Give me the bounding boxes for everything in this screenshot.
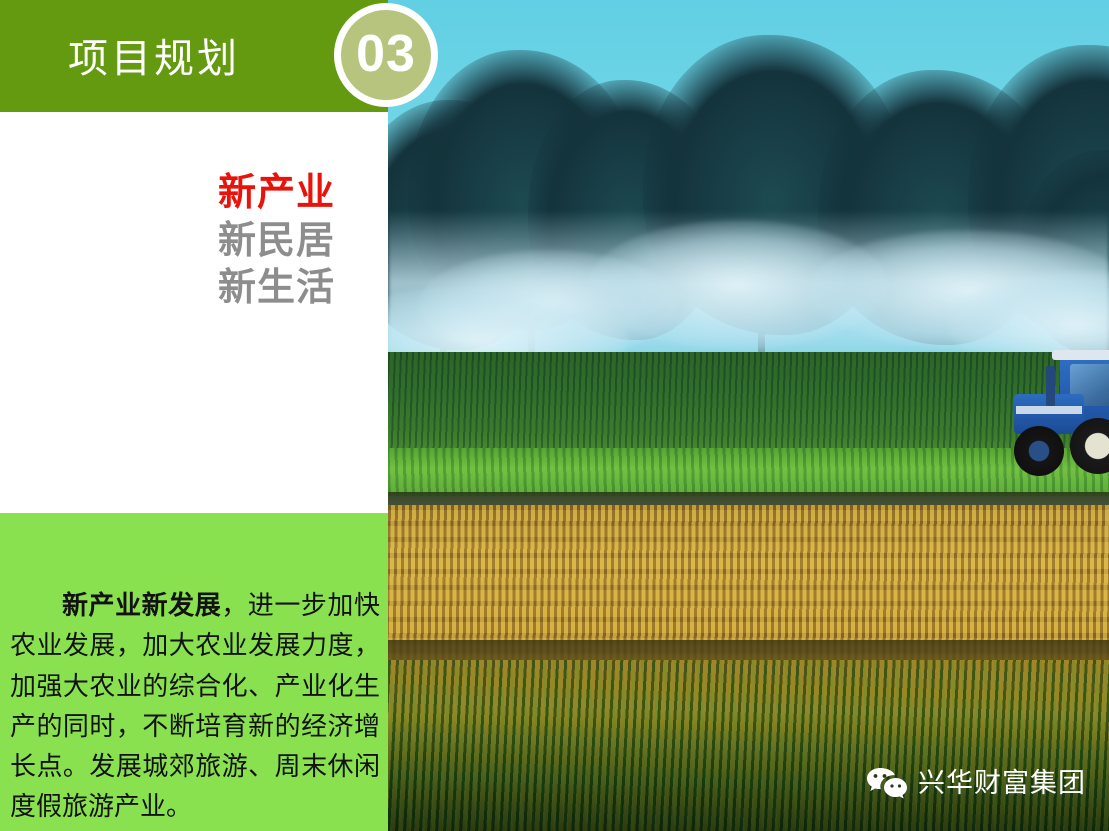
headline-group: 新产业 新民居 新生活 <box>218 170 335 313</box>
body-rest: ，进一步加快农业发展，加大农业发展力度，加强大农业的综合化、产业化生产的同时，不… <box>10 590 380 821</box>
section-number: 03 <box>356 28 416 80</box>
exhaust-stack <box>1046 366 1055 406</box>
section-number-badge: 03 <box>334 3 438 107</box>
page-title: 项目规划 <box>68 39 240 79</box>
low-crop-band <box>388 660 1109 831</box>
slide-root: 兴华财富集团 项目规划 03 新产业 新民居 新生活 新产业新发展，进一步加快农… <box>0 0 1109 831</box>
tractor-front-wheel <box>1014 426 1064 476</box>
wechat-icon <box>866 766 908 800</box>
stubble-field-band <box>388 505 1109 660</box>
headline-line-1: 新产业 <box>218 170 335 218</box>
headline-panel: 新产业 新民居 新生活 <box>0 112 388 513</box>
watermark-label: 兴华财富集团 <box>918 770 1086 797</box>
body-lead: 新产业新发展 <box>62 590 221 620</box>
cab-roof <box>1052 350 1109 360</box>
headline-line-3: 新生活 <box>218 265 335 313</box>
header-bar: 项目规划 <box>0 0 388 112</box>
headline-line-2: 新民居 <box>218 218 335 266</box>
watermark: 兴华财富集团 <box>866 766 1086 800</box>
hood-stripe <box>1016 406 1082 414</box>
background-photo: 兴华财富集团 <box>388 0 1109 831</box>
tractor-group <box>1000 330 1109 490</box>
body-panel: 新产业新发展，进一步加快农业发展，加大农业发展力度，加强大农业的综合化、产业化生… <box>0 513 388 831</box>
body-paragraph: 新产业新发展，进一步加快农业发展，加大农业发展力度，加强大农业的综合化、产业化生… <box>10 585 380 827</box>
